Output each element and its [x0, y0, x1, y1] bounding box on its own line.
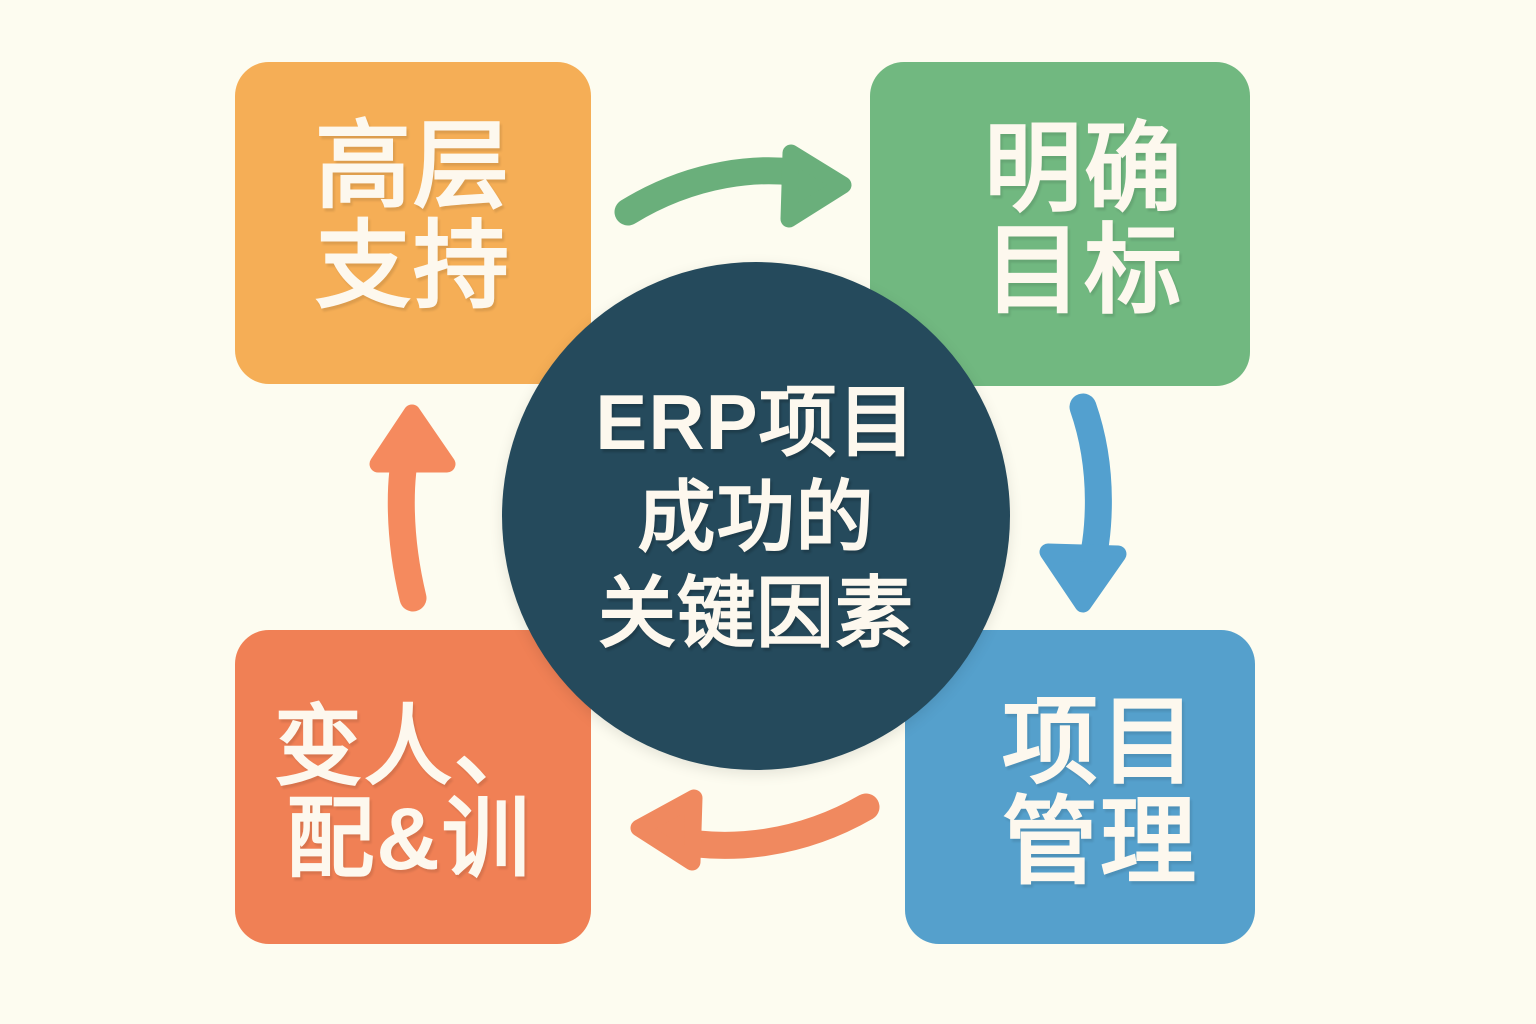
arrow-bottom-left-to-top-left: [360, 390, 470, 625]
node-top-management-support[interactable]: 高层 支持: [235, 62, 591, 384]
center-hub[interactable]: ERP项目 成功的 关键因素: [502, 262, 1010, 770]
arrow-top-right-to-bottom-right: [1045, 385, 1155, 630]
node-label-line-2: 目标: [984, 220, 1184, 322]
node-top-management-support-text: 高层 支持: [315, 117, 511, 317]
node-label-line-1: 明确: [984, 118, 1184, 220]
node-change-staffing-training[interactable]: 变人、 配&训: [235, 630, 591, 944]
node-label-line-2: 管理: [1002, 793, 1198, 893]
node-clear-objectives-text: 明确 目标: [984, 118, 1184, 322]
center-label-line-2: 成功的: [595, 470, 916, 565]
node-project-management[interactable]: 项目 管理: [905, 630, 1255, 944]
node-project-management-text: 项目 管理: [1002, 693, 1198, 893]
node-label-line-1: 项目: [1002, 693, 1198, 793]
arrow-top-left-to-top-right: [610, 150, 860, 250]
node-label-line-2: 配&训: [274, 793, 544, 885]
diagram-canvas: 高层 支持 明确 目标 项目 管理 变人、 配&训 ERP项目 成功的 关键因素: [0, 0, 1536, 1024]
node-label-line-1: 高层: [315, 117, 511, 217]
center-label-line-3: 关键因素: [595, 566, 916, 661]
node-change-staffing-training-text: 变人、 配&训: [274, 701, 544, 884]
node-label-line-2: 支持: [315, 217, 511, 317]
center-hub-text: ERP项目 成功的 关键因素: [595, 375, 916, 660]
center-label-line-1: ERP项目: [595, 375, 916, 470]
node-label-line-1: 变人、: [274, 701, 544, 793]
arrow-bottom-right-to-bottom-left: [610, 775, 890, 875]
